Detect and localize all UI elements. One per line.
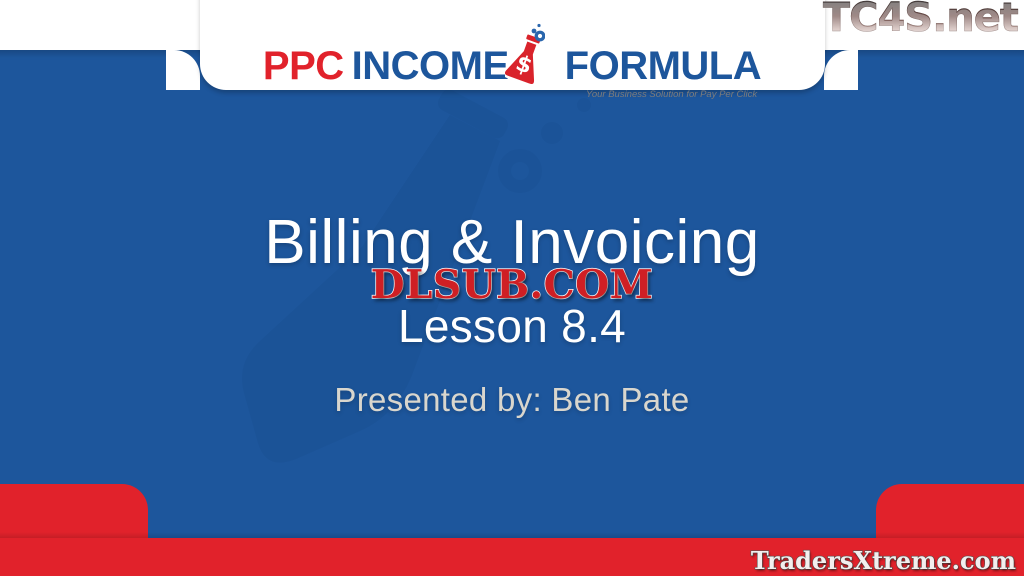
logo-text-formula: FORMULA xyxy=(565,46,761,86)
presenter-line: Presented by: Ben Pate xyxy=(0,381,1024,419)
footer-red-corner-left xyxy=(0,484,148,576)
logo-tagline: Your Business Solution for Pay Per Click xyxy=(263,89,761,100)
watermark-tc4s: TC4S.net xyxy=(823,0,1018,38)
logo-text-ppc: PPC xyxy=(263,46,344,86)
flask-icon: $ xyxy=(505,22,545,86)
logo-text-income: INCOME xyxy=(352,46,509,86)
brand-logo-inner: PPC INCOME $ FORMULA Your B xyxy=(263,22,761,86)
presentation-slide: Billing & Invoicing Lesson 8.4 Presented… xyxy=(0,0,1024,576)
watermark-dlsub: DLSUB.COM xyxy=(371,266,654,305)
slide-content: Billing & Invoicing Lesson 8.4 Presented… xyxy=(0,210,1024,419)
watermark-tradersxtreme: TradersXtreme.com xyxy=(751,548,1016,574)
